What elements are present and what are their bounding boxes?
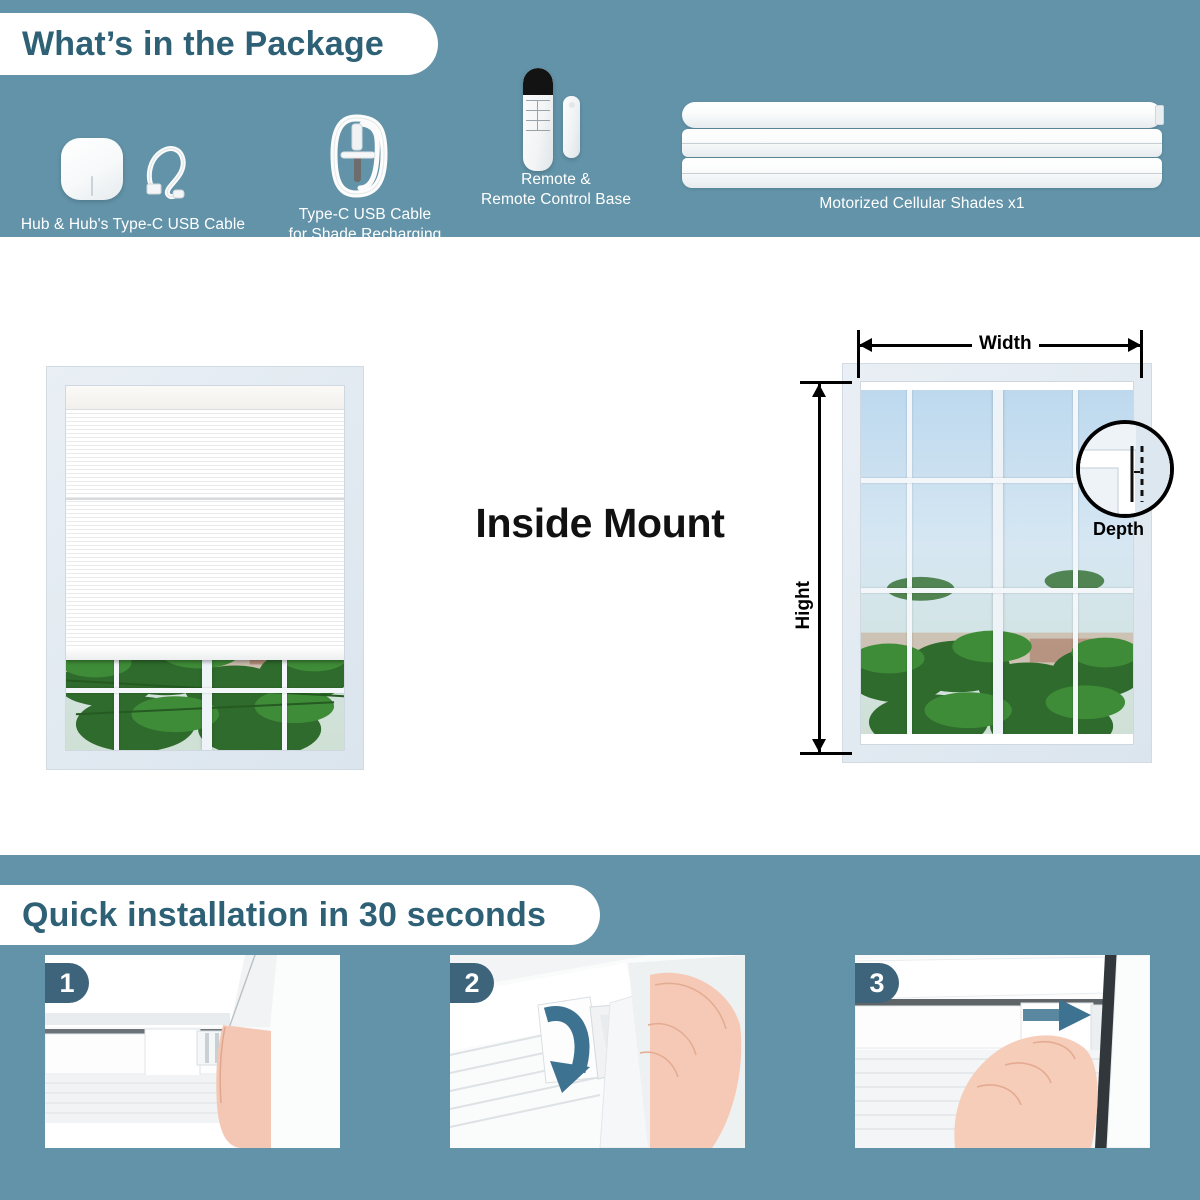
step-2-image: 2: [450, 955, 745, 1148]
shade-headrail-front: [66, 386, 344, 410]
remote-keypad: [526, 100, 550, 130]
window-with-shade-image: [46, 366, 364, 770]
headrail-top: [682, 102, 1162, 128]
width-label: Width: [972, 333, 1039, 355]
package-title-pill: What’s in the Package: [0, 13, 438, 75]
width-arrow-left: [859, 338, 872, 352]
sash-bottom-rail: [861, 734, 1133, 744]
headrail-bottom: [682, 158, 1162, 188]
step-number-badge: 2: [450, 963, 494, 1003]
install-step-2: 2: [450, 955, 745, 1148]
hub-slot: [91, 176, 93, 196]
step-number-badge: 1: [45, 963, 89, 1003]
height-dimension-line: [818, 382, 821, 754]
headrail-end-cap: [1155, 105, 1164, 125]
page-title: What’s in the Package: [22, 25, 384, 64]
cellular-shade-fabric: [66, 386, 344, 660]
window-glass-area: [65, 385, 345, 751]
step-3-image: 3: [855, 955, 1150, 1148]
height-arrow-top: [812, 384, 826, 397]
usb-cable-coil-icon: [300, 100, 430, 205]
product-infographic: What’s in the Package Hub & Hub's Type-C…: [0, 0, 1200, 1200]
step-number-badge: 3: [855, 963, 899, 1003]
remote-control-icon: [523, 68, 553, 171]
install-step-1: 1: [45, 955, 340, 1148]
package-item-cable: Type-C USB Cable for Shade Recharging: [270, 100, 460, 245]
remote-base-icon: [563, 96, 580, 158]
depth-callout-circle: [1076, 420, 1174, 518]
install-title: Quick installation in 30 seconds: [22, 896, 546, 935]
motorized-cellular-shade-icon: [682, 102, 1162, 194]
remote-and-base-icon: [501, 66, 611, 184]
package-item-hub: Hub & Hub's Type-C USB Cable (Plug Not I…: [8, 110, 258, 255]
width-arrow-right: [1128, 338, 1141, 352]
package-item-shade: Motorized Cellular Shades x1: [672, 102, 1172, 214]
inside-mount-heading: Inside Mount: [440, 500, 760, 547]
shade-mid-rail: [66, 498, 344, 500]
cable-coil-shape: [322, 108, 406, 203]
height-arrow-bottom: [812, 739, 826, 752]
install-title-pill: Quick installation in 30 seconds: [0, 885, 600, 945]
package-item-remote: Remote & Remote Control Base: [466, 66, 646, 210]
install-step-3: 3: [855, 955, 1150, 1148]
shade-bottom-rail: [66, 649, 344, 660]
shade-headrail: [682, 102, 1162, 188]
headrail-middle: [682, 129, 1162, 157]
height-extension-bottom: [800, 752, 852, 755]
hub-and-usb-cable-icon: [43, 110, 223, 215]
height-label: Hight: [793, 574, 815, 637]
height-extension-top: [800, 381, 852, 384]
hub-icon: [61, 138, 123, 200]
sash-top-rail: [861, 382, 1133, 390]
depth-label: Depth: [1093, 519, 1144, 540]
remote-top-cap: [523, 68, 553, 95]
package-item-caption: Motorized Cellular Shades x1: [672, 194, 1172, 214]
usb-cable-icon: [139, 140, 201, 202]
step-1-image: 1: [45, 955, 340, 1148]
